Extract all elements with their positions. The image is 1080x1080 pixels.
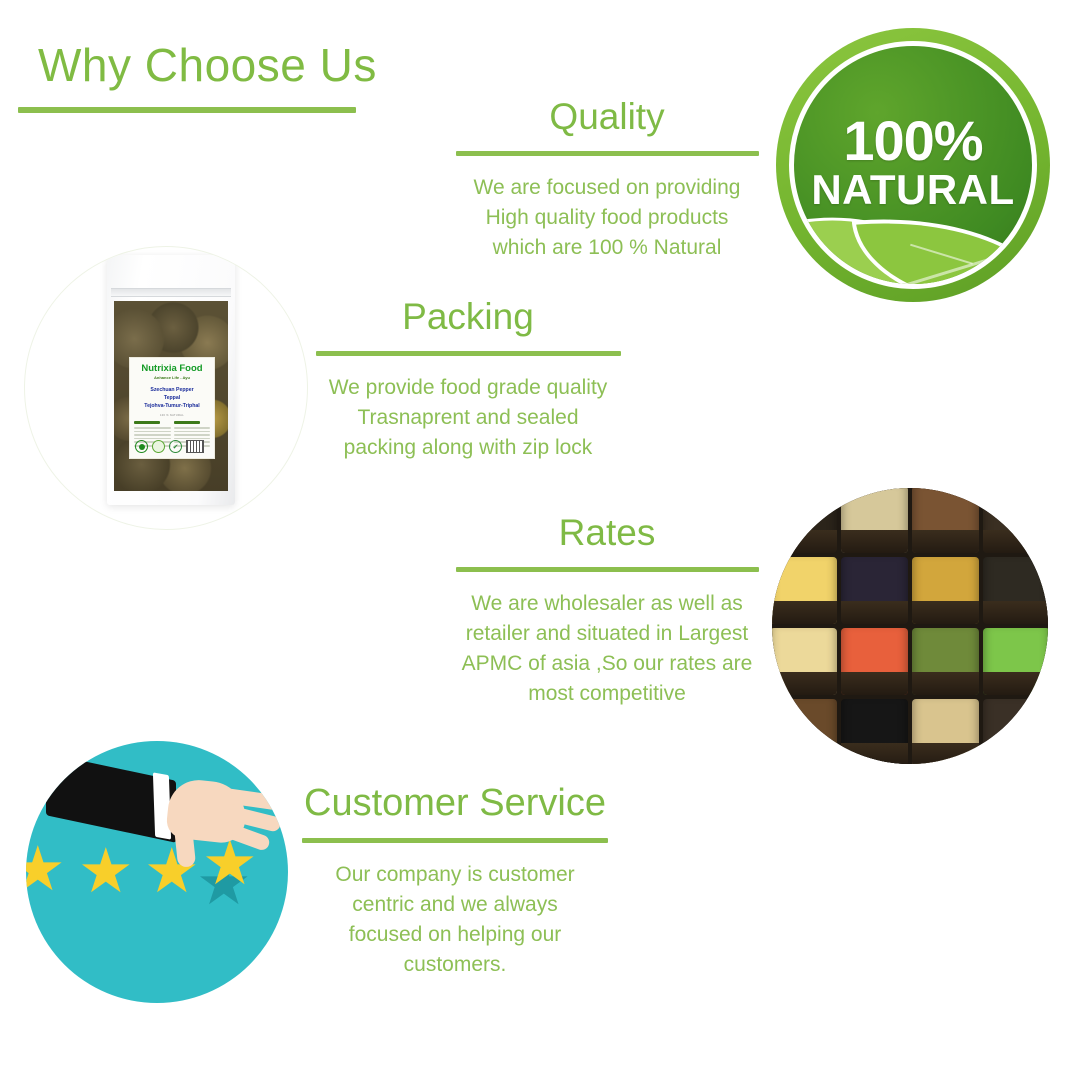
product-pouch-image: Nutrixia Food Anhance Life - Ayu Szechua…	[24, 246, 308, 530]
spice-bin	[772, 488, 837, 553]
spice-bin	[841, 488, 908, 553]
section-rates-heading: Rates	[440, 512, 774, 555]
section-rates-line-1: We are wholesaler as well as	[440, 589, 774, 619]
section-customer-service-heading: Customer Service	[296, 782, 614, 826]
spice-bin	[772, 557, 837, 624]
spice-bin	[912, 557, 979, 624]
barcode-icon	[186, 440, 204, 453]
pouch-certification-icons	[135, 440, 204, 453]
section-rates-line-3: APMC of asia ,So our rates are	[440, 649, 774, 679]
customer-rating-illustration: ★ ★ ★ ★ ★	[26, 741, 288, 1003]
pouch-natural-note: 100 % NATURAL	[130, 414, 214, 417]
section-packing-line-1: We provide food grade quality	[300, 373, 636, 403]
section-customer-service-line-3: focused on helping our	[296, 920, 614, 950]
section-customer-service-line-2: centric and we always	[296, 890, 614, 920]
spice-bin	[772, 699, 837, 764]
pouch-product-name: Szechuan Pepper Teppal Tejohva-Tumur-Tri…	[130, 387, 214, 410]
pouch-label: Nutrixia Food Anhance Life - Ayu Szechua…	[129, 357, 215, 459]
badge-natural-text: NATURAL	[794, 166, 1032, 214]
section-rates-line-2: retailer and situated in Largest	[440, 619, 774, 649]
fssai-icon	[152, 440, 165, 453]
section-quality-line-1: We are focused on providing	[440, 173, 774, 203]
section-quality-divider	[456, 151, 759, 156]
section-rates-body: We are wholesaler as well as retailer an…	[440, 589, 774, 709]
spice-bin	[983, 488, 1048, 553]
section-customer-service-divider	[302, 838, 608, 843]
section-packing: Packing We provide food grade quality Tr…	[300, 296, 636, 463]
spice-bins-grid	[772, 488, 1048, 764]
page-title: Why Choose Us	[38, 40, 377, 91]
spice-bin	[772, 628, 837, 695]
star-icon-partial: ★	[26, 839, 66, 901]
spice-bin	[841, 699, 908, 764]
spice-bin	[983, 557, 1048, 624]
section-quality-line-2: High quality food products	[440, 203, 774, 233]
section-quality-line-3: which are 100 % Natural	[440, 233, 774, 263]
badge-percent-text: 100%	[794, 108, 1032, 173]
veg-mark-icon	[135, 440, 148, 453]
section-packing-heading: Packing	[300, 296, 636, 339]
section-customer-service-body: Our company is customer centric and we a…	[296, 860, 614, 980]
section-quality: Quality We are focused on providing High…	[440, 96, 774, 263]
spice-bin	[841, 557, 908, 624]
pouch-product-line-1: Szechuan Pepper	[130, 387, 214, 395]
badge-inner-circle: 100% NATURAL	[789, 41, 1037, 289]
section-customer-service-line-1: Our company is customer	[296, 860, 614, 890]
spice-bin	[912, 628, 979, 695]
pouch-brand-tagline: Anhance Life - Ayu	[130, 375, 214, 380]
section-packing-line-2: Trasnaprent and sealed	[300, 403, 636, 433]
spice-bin	[912, 488, 979, 553]
spice-market-photo	[772, 488, 1048, 764]
pouch-body: Nutrixia Food Anhance Life - Ayu Szechua…	[107, 255, 235, 505]
pouch-brand-name: Nutrixia Food	[130, 363, 214, 374]
pouch-zip-lock	[111, 288, 231, 297]
section-quality-body: We are focused on providing High quality…	[440, 173, 774, 263]
star-icon-1: ★	[78, 841, 134, 903]
section-packing-divider	[316, 351, 621, 356]
section-customer-service: Customer Service Our company is customer…	[296, 782, 614, 980]
section-rates-line-4: most competitive	[440, 679, 774, 709]
why-choose-us-page: Why Choose Us Nutrixia Food Anhance Life…	[0, 0, 1080, 1080]
section-packing-line-3: packing along with zip lock	[300, 433, 636, 463]
spice-bin	[983, 628, 1048, 695]
pouch-product-line-3: Tejohva-Tumur-Triphal	[130, 403, 214, 411]
section-customer-service-line-4: customers.	[296, 950, 614, 980]
section-packing-body: We provide food grade quality Trasnapren…	[300, 373, 636, 463]
section-rates: Rates We are wholesaler as well as retai…	[440, 512, 774, 709]
halal-icon	[169, 440, 182, 453]
100-percent-natural-badge: 100% NATURAL	[776, 28, 1050, 302]
pouch-product-line-2: Teppal	[130, 395, 214, 403]
spice-bin	[912, 699, 979, 764]
section-quality-heading: Quality	[440, 96, 774, 139]
spice-bin	[983, 699, 1048, 764]
page-title-underline	[18, 107, 356, 113]
section-rates-divider	[456, 567, 759, 572]
spice-bin	[841, 628, 908, 695]
